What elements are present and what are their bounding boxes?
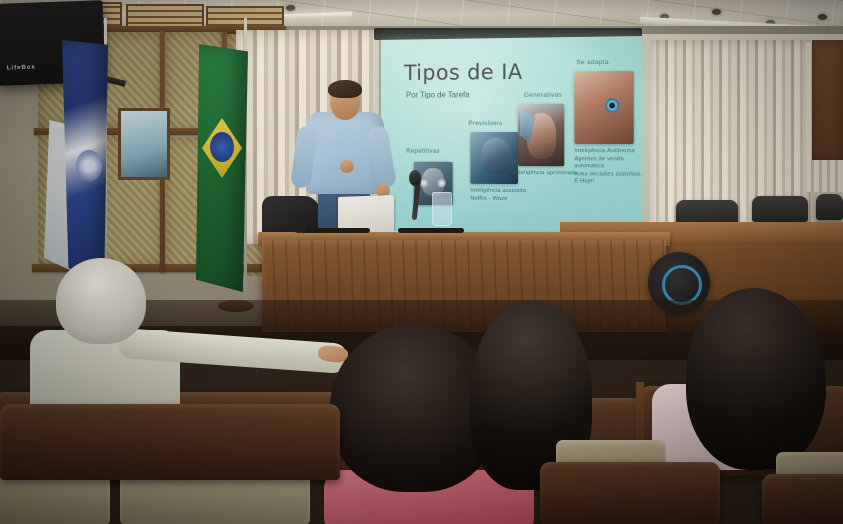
front-seat-back[interactable] xyxy=(0,404,340,480)
flag-brazil-globe xyxy=(210,132,234,162)
eye-iris xyxy=(605,99,619,113)
slide-heading-repetitivas: Repetitivas xyxy=(406,148,440,155)
slide-heading-generativas: Generativas xyxy=(524,92,562,99)
slide-heading-previsiveis: Previsíveis xyxy=(468,120,502,127)
wall-monitor xyxy=(118,108,170,180)
ceiling-light xyxy=(818,14,827,20)
slide-caption-previsiveis: Inteligência assistida Netflix - Waze xyxy=(470,188,526,204)
flag-seal xyxy=(76,150,102,182)
presenter-hair xyxy=(328,80,362,98)
slide-title: Tipos de IA xyxy=(404,60,523,85)
ceiling-light xyxy=(712,9,721,15)
presenter-hand xyxy=(340,160,354,173)
wall-clock-ring xyxy=(662,265,702,305)
audience-woman-curly-hair xyxy=(686,288,826,470)
human-eye-thumb xyxy=(574,71,633,144)
microphone xyxy=(409,170,421,186)
slide-heading-se-adapta: Se adapta xyxy=(576,59,609,66)
loudspeaker-brand-label: LifeBox xyxy=(7,65,36,72)
desk-cable xyxy=(300,228,370,233)
meeting-chair[interactable] xyxy=(752,196,808,222)
slide-caption-se-adapta: Inteligência Autônoma Agentes de venda a… xyxy=(574,148,642,187)
robot-profile-shape xyxy=(481,138,511,174)
robot-profile-thumb xyxy=(470,132,518,184)
presentation-photo-scene: LifeBox Tipos de IA Por Tipo de Tarefa R… xyxy=(0,0,843,524)
robot-eye xyxy=(437,178,446,187)
ceiling-light xyxy=(286,5,295,11)
ai-face-thumb xyxy=(518,104,564,166)
front-seat-back[interactable] xyxy=(762,474,843,524)
meeting-chair[interactable] xyxy=(816,194,843,220)
audience-elder-man-hair xyxy=(56,258,146,344)
slide-subtitle: Por Tipo de Tarefa xyxy=(406,90,470,99)
slide-caption-generativas: Inteligência aprimorada xyxy=(514,170,577,178)
robot-eye xyxy=(420,178,429,187)
front-seat-back[interactable] xyxy=(540,462,720,524)
wall-wood-panel xyxy=(812,40,843,160)
projection-screen: Tipos de IA Por Tipo de Tarefa Repetitiv… xyxy=(381,36,642,244)
water-glass xyxy=(432,192,452,226)
seat-cushion[interactable] xyxy=(0,476,110,524)
desk-cable xyxy=(398,228,464,233)
desk-puck-device xyxy=(292,222,306,233)
